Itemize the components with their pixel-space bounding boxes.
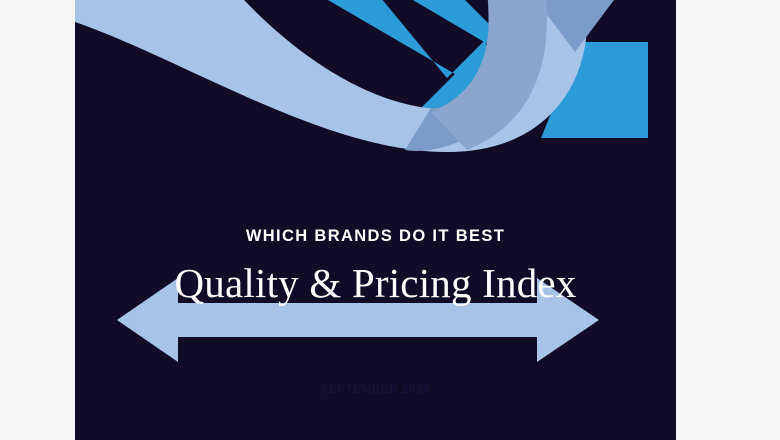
report-cover-panel: WHICH BRANDS DO IT BEST Quality & Pricin… [75,0,676,440]
poster-canvas: WHICH BRANDS DO IT BEST Quality & Pricin… [0,0,780,440]
cover-title-block: WHICH BRANDS DO IT BEST Quality & Pricin… [75,228,676,304]
cover-date-ribbon: SEPTEMBER 2025 [75,385,676,397]
double-headed-arrow [75,0,676,440]
cover-eyebrow: WHICH BRANDS DO IT BEST [75,228,676,245]
cover-title: Quality & Pricing Index [75,245,676,304]
cover-date-label: SEPTEMBER 2025 [75,385,676,397]
